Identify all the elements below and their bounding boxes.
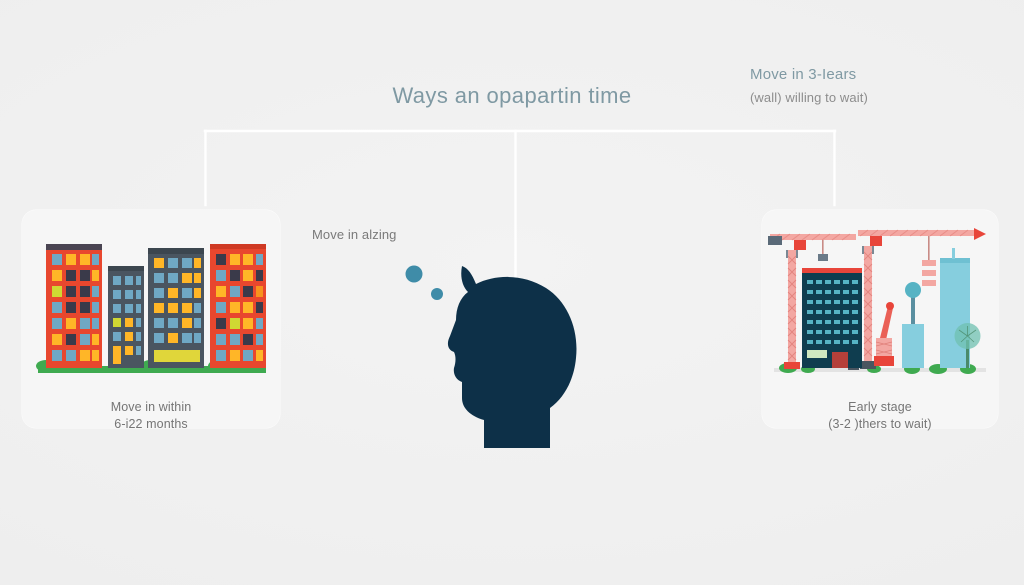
center-label: Move in alzing <box>312 227 397 242</box>
page-title: Ways an opapartin time <box>0 83 1024 109</box>
building-3 <box>148 248 204 368</box>
card-left-caption-line2: 6-i22 months <box>22 416 280 433</box>
tower-short <box>902 282 924 368</box>
card-left[interactable]: Move in within 6-i22 months <box>22 210 280 428</box>
building-2 <box>108 266 144 368</box>
tower-tall <box>940 248 970 368</box>
construction-cranes-illustration <box>762 228 998 388</box>
building-1 <box>46 244 102 368</box>
infographic-canvas: Ways an opapartin time Move in 3-Iears (… <box>0 0 1024 585</box>
right-heading: Move in 3-Iears <box>750 66 856 83</box>
card-left-caption: Move in within 6-i22 months <box>22 399 280 433</box>
card-right-caption-line1: Early stage <box>848 400 912 414</box>
card-right-caption-line2: (3-2 )thers to wait) <box>762 416 998 433</box>
mobile-crane <box>874 302 894 366</box>
building-4 <box>210 244 266 368</box>
thought-bubble-large <box>406 266 423 283</box>
apartment-buildings-illustration <box>22 228 280 388</box>
card-right-caption: Early stage (3-2 )thers to wait) <box>762 399 998 433</box>
card-right[interactable]: Early stage (3-2 )thers to wait) <box>762 210 998 428</box>
thought-bubbles <box>398 258 468 318</box>
teal-building <box>802 268 862 368</box>
right-subheading: (wall) willing to wait) <box>750 90 868 105</box>
card-left-caption-line1: Move in within <box>111 400 192 414</box>
thought-bubble-small <box>431 288 443 300</box>
